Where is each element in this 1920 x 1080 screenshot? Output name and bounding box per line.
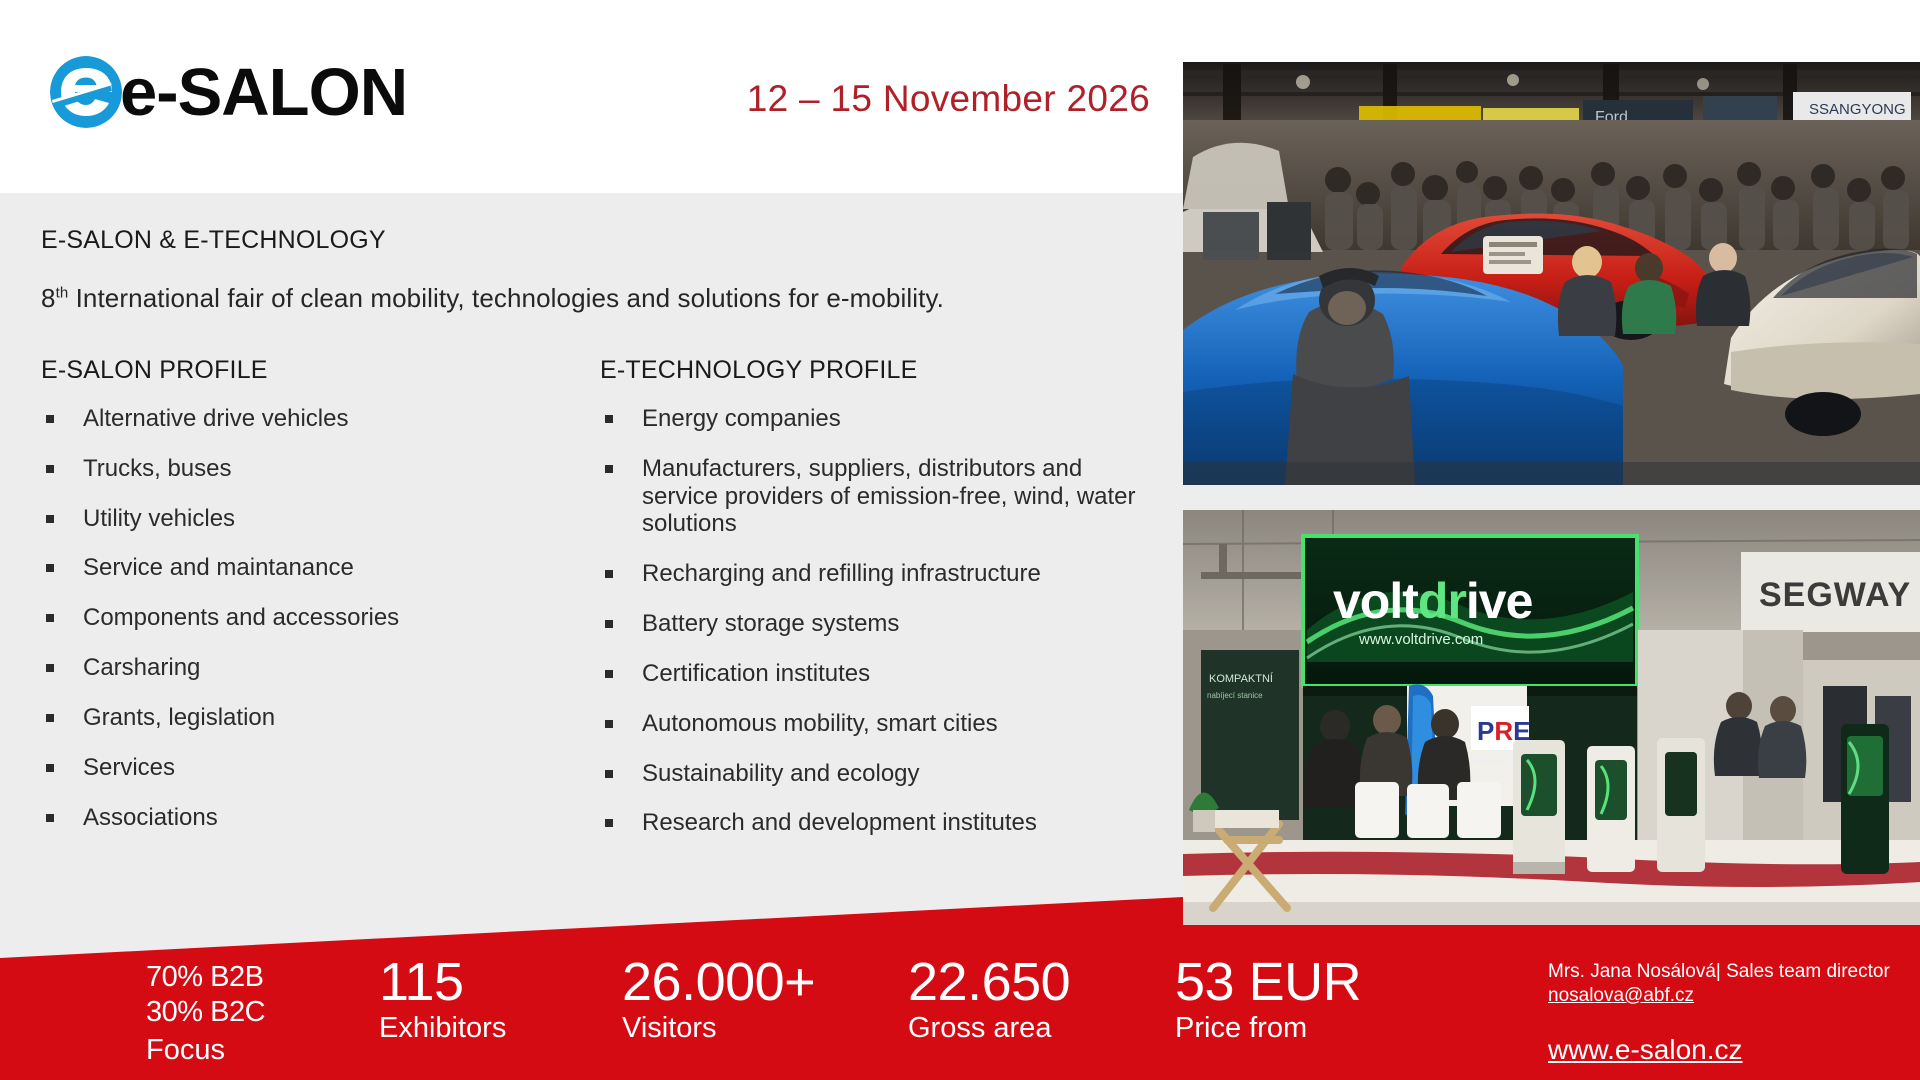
stat-label: Price from [1175,1011,1361,1046]
bullet-square-icon [605,415,613,423]
list-item: Certification institutes [600,660,1160,688]
list-item: Associations [41,804,541,832]
stat-value: 115 [379,955,506,1009]
bullet-square-icon [605,770,613,778]
list-item: Alternative drive vehicles [41,405,541,433]
list-item-label: Trucks, buses [83,455,232,482]
list-item-label: Battery storage systems [642,610,899,637]
svg-text:SEGWAY: SEGWAY [1759,576,1911,614]
svg-text:www.voltdrive.com: www.voltdrive.com [1358,631,1483,648]
list-item: Trucks, buses [41,455,541,483]
bullet-square-icon [46,664,54,672]
svg-text:nabíjecí stanice: nabíjecí stanice [1207,691,1263,700]
subtitle: 8th International fair of clean mobility… [41,283,944,314]
subtitle-ordinal-suffix: th [56,284,69,301]
stat-value-line2: 30% B2C [146,995,265,1030]
list-item-label: Carsharing [83,654,200,681]
list-item: Autonomous mobility, smart cities [600,710,1160,738]
list-item-label: Autonomous mobility, smart cities [642,710,998,737]
list-item: Service and maintanance [41,554,541,582]
stat-visitors: 26.000+ Visitors [622,955,815,1046]
bullet-list-e-salon: Alternative drive vehicles Trucks, buses… [41,405,541,831]
bullet-square-icon [46,465,54,473]
list-item-label: Service and maintanance [83,554,354,581]
bullet-square-icon [605,620,613,628]
list-item-label: Research and development institutes [642,809,1037,836]
stat-label: Focus [146,1033,265,1068]
stat-label: Visitors [622,1011,815,1046]
list-item: Carsharing [41,654,541,682]
list-item-label: Manufacturers, suppliers, distributors a… [642,455,1136,538]
bullet-list-e-technology: Energy companies Manufacturers, supplier… [600,405,1160,837]
stat-value: 26.000+ [622,955,815,1009]
list-item: Manufacturers, suppliers, distributors a… [600,455,1160,538]
bullet-square-icon [46,415,54,423]
content-area: E-SALON & E-TECHNOLOGY 8th International… [0,193,1180,973]
list-item: Components and accessories [41,604,541,632]
bullet-square-icon [46,564,54,572]
website-link[interactable]: www.e-salon.cz [1548,1034,1743,1066]
stat-label: Gross area [908,1011,1070,1046]
bullet-square-icon [46,614,54,622]
bullet-square-icon [605,465,613,473]
column-e-technology-profile: E-TECHNOLOGY PROFILE Energy companies Ma… [600,356,1160,859]
list-item: Battery storage systems [600,610,1160,638]
stat-value-line1: 70% B2B [146,960,265,995]
photo-exhibition-hall: Ford SSANGYONG SSANGYONG [1183,62,1920,485]
bullet-square-icon [605,670,613,678]
bullet-square-icon [46,515,54,523]
list-item: Utility vehicles [41,505,541,533]
bullet-square-icon [46,764,54,772]
bullet-square-icon [46,714,54,722]
list-item: Sustainability and ecology [600,760,1160,788]
list-item: Grants, legislation [41,704,541,732]
bullet-square-icon [605,819,613,827]
svg-text:KOMPAKTNÍ: KOMPAKTNÍ [1209,672,1274,685]
stat-label: Exhibitors [379,1011,506,1046]
bullet-square-icon [46,814,54,822]
list-item: Energy companies [600,405,1160,433]
column-e-salon-profile: E-SALON PROFILE Alternative drive vehicl… [41,356,541,853]
list-item: Research and development institutes [600,809,1160,837]
contact-email-link[interactable]: nosalova@abf.cz [1548,984,1694,1009]
list-item-label: Alternative drive vehicles [83,405,348,432]
column-title: E-TECHNOLOGY PROFILE [600,356,1160,385]
svg-text:SSANGYONG: SSANGYONG [1809,101,1906,118]
stat-price-from: 53 EUR Price from [1175,955,1361,1046]
list-item-label: Grants, legislation [83,704,275,731]
event-date: 12 – 15 November 2026 [0,78,1150,120]
photo-voltdrive-stand: voltdrive www.voltdrive.com SEGWAY KOMPA… [1183,510,1920,925]
subtitle-ordinal: 8 [41,283,56,313]
list-item-label: Sustainability and ecology [642,760,920,787]
list-item-label: Components and accessories [83,604,399,631]
list-item-label: Associations [83,804,218,831]
slide-root: e-SALON 12 – 15 November 2026 E-SALON & … [0,0,1920,1080]
contact-block: Mrs. Jana Nosálová| Sales team director … [1548,960,1908,1066]
list-item-label: Energy companies [642,405,841,432]
list-item-label: Certification institutes [642,660,870,687]
contact-person: Mrs. Jana Nosálová| Sales team director [1548,960,1908,984]
list-item-label: Services [83,754,175,781]
bullet-square-icon [605,720,613,728]
stat-exhibitors: 115 Exhibitors [379,955,506,1046]
list-item: Recharging and refilling infrastructure [600,560,1160,588]
column-title: E-SALON PROFILE [41,356,541,385]
bullet-square-icon [605,570,613,578]
list-item-label: Recharging and refilling infrastructure [642,560,1041,587]
list-item-label: Utility vehicles [83,505,235,532]
subtitle-rest: International fair of clean mobility, te… [68,283,944,313]
stat-value: 53 EUR [1175,955,1361,1009]
stat-value: 22.650 [908,955,1070,1009]
stat-gross-area: 22.650 Gross area [908,955,1070,1046]
page-title: E-SALON & E-TECHNOLOGY [41,226,386,255]
list-item: Services [41,754,541,782]
stat-focus: 70% B2B 30% B2C Focus [146,960,265,1068]
svg-text:mobilita od: mobilita od [1473,756,1517,766]
svg-text:voltdrive: voltdrive [1333,573,1533,629]
